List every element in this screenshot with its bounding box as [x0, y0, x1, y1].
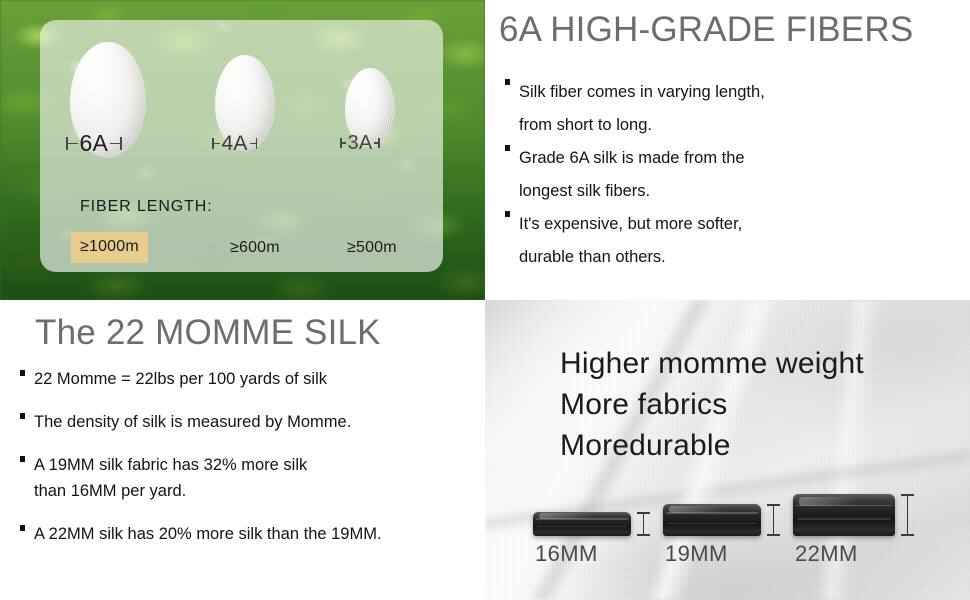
caliper-cap-right-icon	[256, 138, 258, 149]
fabric-stack-group-22mm: 22MM	[793, 300, 933, 600]
list-item: Silk fiber comes in varying length, from…	[505, 76, 960, 142]
caliper-bar-left-icon	[68, 143, 78, 145]
panel-fabric-thickness: Higher momme weight More fabrics Moredur…	[485, 300, 970, 600]
fiber-length-value-3a: ≥500m	[347, 239, 397, 257]
height-marker-22mm	[901, 494, 914, 536]
caliper-marker-6a: 6A	[66, 132, 122, 155]
square-bullet-icon	[20, 413, 25, 419]
marker-stem-icon	[643, 514, 645, 535]
fiber-length-title: FIBER LENGTH:	[80, 198, 213, 216]
panel-cocoon-comparison: 6A 4A 3A	[0, 0, 485, 300]
fiber-length-value-6a: ≥1000m	[71, 232, 148, 263]
fabric-stack-label-22mm: 22MM	[795, 541, 858, 567]
list-item: The density of silk is measured by Momme…	[6, 409, 484, 435]
bullet-line: longest silk fibers.	[505, 175, 960, 208]
bullet-line: The density of silk is measured by Momme…	[6, 409, 484, 435]
caliper-bar-right-icon	[110, 143, 120, 145]
caliper-label-4a: 4A	[220, 133, 250, 154]
list-item: It's expensive, but more softer, durable…	[505, 208, 960, 274]
panel-high-grade-fibers: 6A HIGH-GRADE FIBERS Silk fiber comes in…	[485, 0, 970, 300]
caliper-label-3a: 3A	[346, 133, 375, 153]
caliper-cap-right-icon	[378, 138, 380, 148]
fabric-stack-row: 16MM 19MM	[485, 300, 970, 600]
marker-stem-icon	[773, 506, 775, 535]
square-bullet-icon	[505, 145, 510, 151]
marker-stem-icon	[907, 496, 909, 535]
folded-fabric-22mm	[793, 494, 895, 536]
height-marker-16mm	[637, 512, 650, 536]
list-item: Grade 6A silk is made from the longest s…	[505, 142, 960, 208]
height-marker-19mm	[767, 504, 780, 536]
folded-fabric-19mm	[663, 504, 761, 536]
fabric-stack-label-19mm: 19MM	[665, 541, 728, 567]
infographic-sheet: 6A 4A 3A	[0, 0, 970, 600]
fiber-length-values: ≥1000m ≥600m ≥500m	[40, 232, 443, 266]
bullet-line: A 22MM silk has 20% more silk than the 1…	[6, 521, 484, 547]
fabric-stack-group-16mm: 16MM	[533, 300, 663, 600]
fabric-sheen	[669, 506, 740, 513]
bullet-line: Silk fiber comes in varying length,	[505, 76, 960, 109]
square-bullet-icon	[20, 370, 25, 376]
square-bullet-icon	[505, 211, 510, 217]
marker-tick-bottom-icon	[901, 534, 914, 536]
momme-bullet-list: 22 Momme = 22lbs per 100 yards of silk T…	[6, 366, 484, 547]
square-bullet-icon	[505, 79, 510, 85]
frosted-glass-card: 6A 4A 3A	[40, 20, 443, 272]
bullet-line: Grade 6A silk is made from the	[505, 142, 960, 175]
fabric-sheen	[799, 497, 872, 506]
heading-high-grade-fibers: 6A HIGH-GRADE FIBERS	[499, 12, 913, 47]
fiber-length-value-4a: ≥600m	[230, 239, 280, 257]
bullet-line: than 16MM per yard.	[6, 478, 484, 504]
fibers-bullet-list: Silk fiber comes in varying length, from…	[505, 76, 960, 274]
square-bullet-icon	[20, 456, 25, 462]
caliper-marker-3a: 3A	[340, 133, 380, 153]
cocoon-row: 6A 4A 3A	[40, 20, 443, 190]
panel-momme-silk: The 22 MOMME SILK 22 Momme = 22lbs per 1…	[0, 300, 485, 600]
list-item: A 19MM silk fabric has 32% more silk tha…	[6, 452, 484, 504]
caliper-marker-4a: 4A	[212, 133, 257, 154]
folded-fabric-16mm	[533, 512, 631, 536]
bullet-line: It's expensive, but more softer,	[505, 208, 960, 241]
heading-momme-silk: The 22 MOMME SILK	[35, 315, 381, 350]
fabric-stack-group-19mm: 19MM	[663, 300, 793, 600]
caliper-cap-right-icon	[120, 137, 122, 150]
marker-tick-bottom-icon	[637, 534, 650, 536]
bullet-line: from short to long.	[505, 109, 960, 142]
marker-tick-bottom-icon	[767, 534, 780, 536]
caliper-label-6a: 6A	[78, 132, 111, 155]
bullet-line: A 19MM silk fabric has 32% more silk	[6, 452, 484, 478]
list-item: 22 Momme = 22lbs per 100 yards of silk	[6, 366, 484, 392]
list-item: A 22MM silk has 20% more silk than the 1…	[6, 521, 484, 547]
square-bullet-icon	[20, 525, 25, 531]
bullet-line: 22 Momme = 22lbs per 100 yards of silk	[6, 366, 484, 392]
bullet-line: durable than others.	[505, 241, 960, 274]
fabric-sheen	[539, 513, 610, 518]
fabric-stack-label-16mm: 16MM	[535, 541, 598, 567]
